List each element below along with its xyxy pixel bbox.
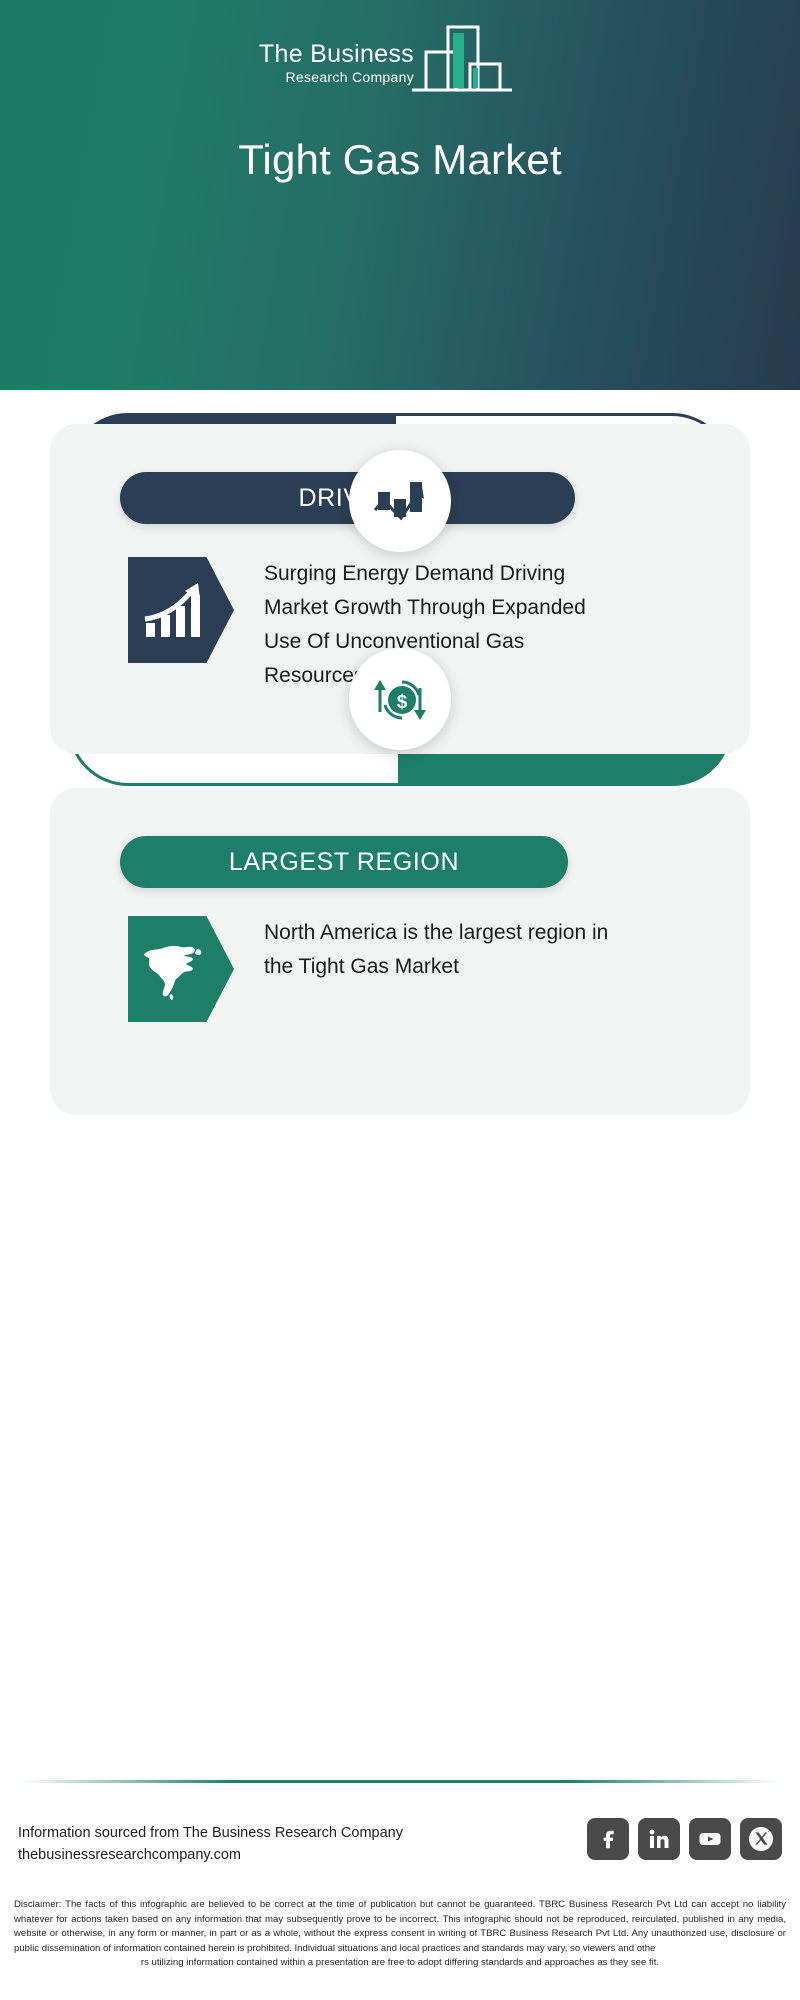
growth-rate-badge [349, 450, 451, 552]
youtube-icon[interactable] [689, 1818, 731, 1860]
driver-icon-shape [128, 557, 234, 663]
footer-divider [20, 1780, 780, 1783]
market-size-badge: $ [349, 648, 451, 750]
header-banner: The Business Research Company Tight Gas … [0, 0, 800, 390]
facebook-icon[interactable] [587, 1818, 629, 1860]
disclaimer-text: Disclaimer: The facts of this infographi… [14, 1898, 786, 1971]
x-twitter-icon[interactable] [740, 1818, 782, 1860]
largest-region-panel: LARGEST REGION North America is the larg… [50, 788, 750, 1115]
region-body-text: North America is the largest region in t… [264, 916, 609, 984]
bar-chart-logo-icon [410, 22, 512, 94]
largest-region-pill: LARGEST REGION [120, 836, 568, 888]
region-row: North America is the largest region in t… [128, 916, 609, 1022]
source-website[interactable]: thebusinessresearchcompany.com [18, 1844, 403, 1866]
source-line-1: Information sourced from The Business Re… [18, 1822, 403, 1844]
linkedin-icon[interactable] [638, 1818, 680, 1860]
growth-chart-arrow-icon [369, 470, 431, 532]
disclaimer-last-line: rs utilizing information contained withi… [14, 1956, 786, 1971]
source-info: Information sourced from The Business Re… [18, 1822, 403, 1867]
logo-line-1: The Business [222, 42, 414, 67]
company-logo: The Business Research Company [222, 22, 512, 94]
social-links [587, 1818, 782, 1860]
logo-line-2: Research Company [222, 70, 414, 84]
facebook-glyph [595, 1826, 621, 1852]
north-america-map-icon [141, 936, 211, 1002]
x-glyph [748, 1826, 774, 1852]
svg-text:$: $ [397, 692, 408, 713]
logo-text: The Business Research Company [222, 42, 414, 84]
youtube-glyph [697, 1826, 723, 1852]
linkedin-glyph [646, 1826, 672, 1852]
disclaimer-main: Disclaimer: The facts of this infographi… [14, 1899, 786, 1954]
driver-pill: DRIVER [120, 472, 575, 524]
dollar-refresh-icon: $ [369, 668, 431, 730]
page-title: Tight Gas Market [0, 136, 800, 184]
infographic-page: The Business Research Company Tight Gas … [0, 0, 800, 2000]
growth-bars-arrow-icon [142, 579, 210, 641]
region-icon-shape [128, 916, 234, 1022]
